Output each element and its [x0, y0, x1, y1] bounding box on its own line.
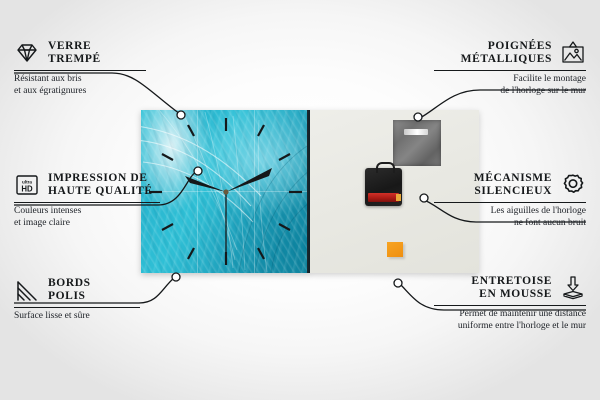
feature-title-line1: VERRE [48, 40, 91, 52]
product-image [141, 110, 479, 273]
feature-description: Résistant aux bris et aux égratignures [14, 74, 146, 97]
foam-spacer [387, 242, 403, 257]
feature-title-line2: MÉTALLIQUES [461, 53, 552, 65]
gear-icon [560, 172, 586, 198]
battery-terminal [396, 194, 401, 201]
feature-divider [434, 305, 586, 306]
feature-desc-line1: Facilite le montage [513, 74, 586, 84]
feature-title: POIGNÉES MÉTALLIQUES [461, 40, 552, 66]
feature-divider [434, 70, 586, 71]
feature-title-line2: EN MOUSSE [479, 288, 552, 300]
feature-mecanisme-silencieux: MÉCANISME SILENCIEUX Les aiguilles de l'… [434, 172, 586, 229]
hanger-slot [404, 129, 428, 135]
feature-title: ENTRETOISE EN MOUSSE [471, 275, 552, 301]
feature-entretoise-en-mousse: ENTRETOISE EN MOUSSE Permet de maintenir… [434, 275, 586, 332]
battery [368, 193, 399, 202]
clock-movement [365, 168, 402, 206]
clock-hands [185, 168, 272, 252]
feature-title: VERRE TREMPÉ [48, 40, 101, 66]
feature-title-line2: TREMPÉ [48, 53, 101, 65]
feature-desc-line2: de l'horloge sur le mur [500, 86, 586, 96]
metal-hanger-plate [393, 120, 441, 166]
polished-edge-icon [14, 277, 40, 303]
feature-impression-haute-qualite: ultra HD IMPRESSION DE HAUTE QUALITÉ Cou… [14, 172, 160, 229]
feature-title: MÉCANISME SILENCIEUX [474, 172, 552, 198]
feature-desc-line1: Les aiguilles de l'horloge [491, 206, 586, 216]
clock-front-panel [141, 110, 310, 273]
feature-description: Les aiguilles de l'horloge ne font aucun… [434, 206, 586, 229]
feature-desc-line1: Permet de maintenir une distance [459, 309, 586, 319]
feature-desc-line2: uniforme entre l'horloge et le mur [458, 321, 586, 331]
svg-text:HD: HD [21, 184, 33, 193]
feature-title-line1: BORDS [48, 277, 91, 289]
feature-description: Facilite le montage de l'horloge sur le … [434, 74, 586, 97]
feature-desc-line2: et aux égratignures [14, 86, 86, 96]
picture-frame-icon [560, 40, 586, 66]
feature-title: IMPRESSION DE HAUTE QUALITÉ [48, 172, 153, 198]
feature-title-line1: POIGNÉES [488, 40, 552, 52]
feature-desc-line1: Résistant aux bris [14, 74, 82, 84]
feature-desc-line2: ne font aucun bruit [514, 218, 586, 228]
feature-divider [14, 70, 146, 71]
feature-description: Surface lisse et sûre [14, 311, 140, 323]
feature-description: Permet de maintenir une distance uniform… [434, 309, 586, 332]
feature-divider [434, 202, 586, 203]
feature-verre-trempe: VERRE TREMPÉ Résistant aux bris et aux é… [14, 40, 146, 97]
feature-title-line2: SILENCIEUX [474, 185, 552, 197]
clock-face [141, 110, 310, 273]
feature-desc-line1: Surface lisse et sûre [14, 311, 90, 321]
foam-spacer-icon [560, 275, 586, 301]
feature-title-line1: IMPRESSION DE [48, 172, 148, 184]
infographic-canvas: VERRE TREMPÉ Résistant aux bris et aux é… [0, 0, 600, 400]
feature-desc-line2: et image claire [14, 218, 70, 228]
feature-desc-line1: Couleurs intenses [14, 206, 81, 216]
feature-divider [14, 202, 160, 203]
feature-title-line2: POLIS [48, 290, 86, 302]
feature-title: BORDS POLIS [48, 277, 91, 303]
feature-poignees-metalliques: POIGNÉES MÉTALLIQUES Facilite le montage… [434, 40, 586, 97]
ultra-hd-icon: ultra HD [14, 172, 40, 198]
feature-bords-polis: BORDS POLIS Surface lisse et sûre [14, 277, 140, 323]
feature-title-line1: ENTRETOISE [471, 275, 552, 287]
feature-title-line2: HAUTE QUALITÉ [48, 185, 153, 197]
diamond-icon [14, 40, 40, 66]
feature-divider [14, 307, 140, 308]
movement-hanging-loop [376, 162, 395, 173]
feature-title-line1: MÉCANISME [474, 172, 552, 184]
feature-description: Couleurs intenses et image claire [14, 206, 160, 229]
